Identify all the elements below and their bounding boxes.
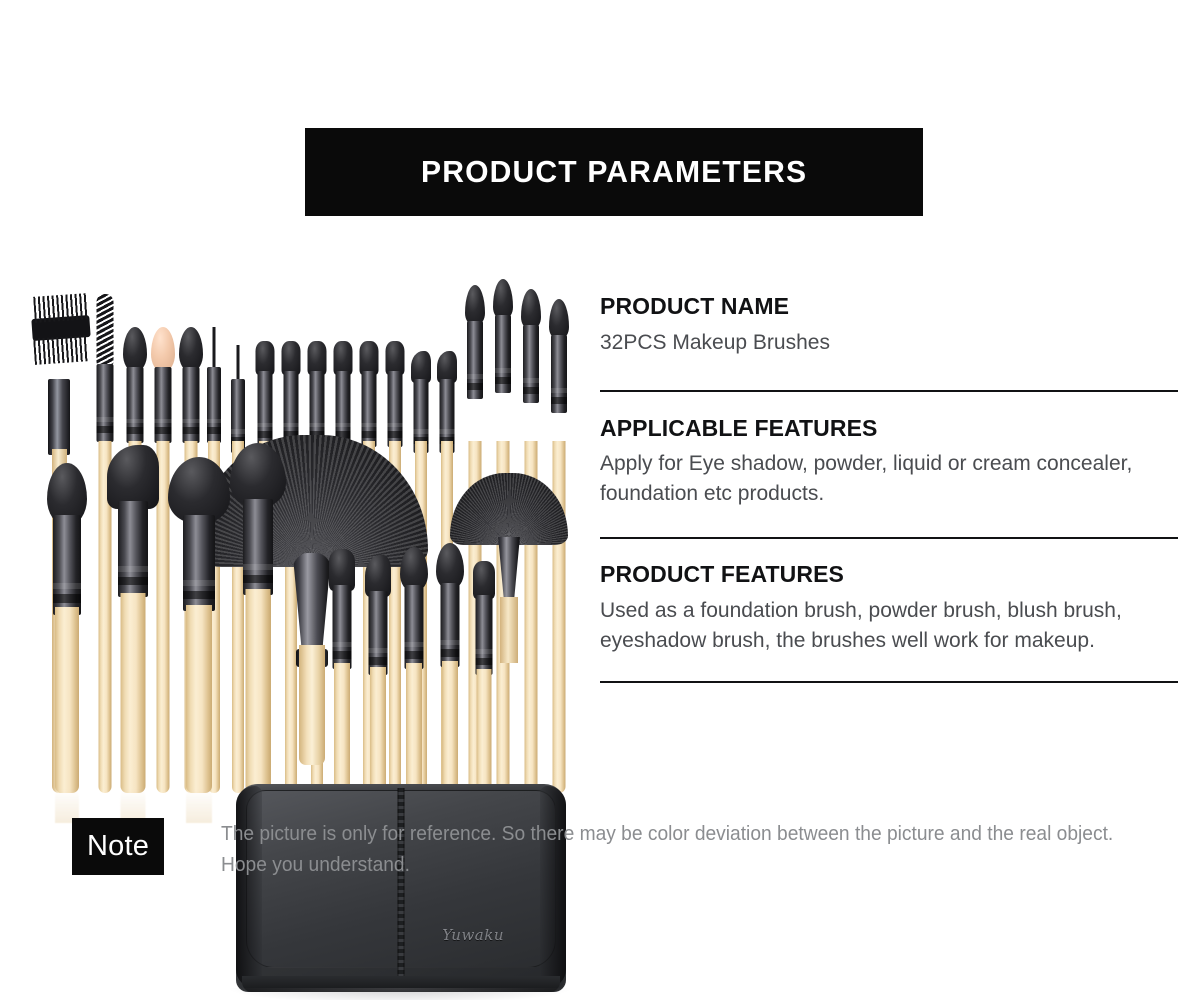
- info-heading-product-name: PRODUCT NAME: [600, 292, 1178, 321]
- comb-head-icon: [32, 293, 90, 385]
- pouch-brand-logo: Yuwaku: [442, 926, 504, 944]
- brush-set-illustration: Yuwaku: [0, 228, 585, 793]
- brush-powder-dome: [218, 443, 298, 793]
- brush-concealer-4: [430, 543, 470, 793]
- brush-concealer-2: [358, 555, 398, 793]
- info-body-product-name: 32PCS Makeup Brushes: [600, 328, 1178, 358]
- info-divider-3: [600, 681, 1178, 683]
- info-section-product-features: PRODUCT FEATURES Used as a foundation br…: [600, 560, 1178, 657]
- product-image: Yuwaku: [0, 228, 585, 793]
- brush-concealer-3: [394, 547, 434, 793]
- note-row: Note The picture is only for reference. …: [72, 818, 1152, 881]
- brush-concealer-5: [466, 561, 502, 793]
- banner-title: PRODUCT PARAMETERS: [421, 154, 807, 190]
- info-body-product-features: Used as a foundation brush, powder brush…: [600, 596, 1178, 656]
- note-badge-label: Note: [87, 830, 149, 863]
- product-parameters-banner: PRODUCT PARAMETERS: [305, 128, 923, 216]
- brush-pouch-case: Yuwaku: [236, 784, 566, 992]
- brush-foundation-tapered: [34, 463, 100, 793]
- brush-concealer-1: [322, 549, 362, 793]
- info-section-product-name: PRODUCT NAME 32PCS Makeup Brushes: [600, 292, 1178, 360]
- product-info-column: PRODUCT NAME 32PCS Makeup Brushes APPLIC…: [600, 292, 1178, 683]
- info-heading-applicable-features: APPLICABLE FEATURES: [600, 414, 1178, 443]
- pouch-shadow: [230, 988, 570, 1000]
- info-heading-product-features: PRODUCT FEATURES: [600, 560, 1178, 589]
- note-badge: Note: [72, 818, 164, 875]
- note-text: The picture is only for reference. So th…: [221, 819, 1114, 881]
- product-parameters-page: PRODUCT PARAMETERS: [0, 0, 1200, 1000]
- info-body-applicable-features: Apply for Eye shadow, powder, liquid or …: [600, 449, 1178, 509]
- info-section-applicable-features: APPLICABLE FEATURES Apply for Eye shadow…: [600, 414, 1178, 511]
